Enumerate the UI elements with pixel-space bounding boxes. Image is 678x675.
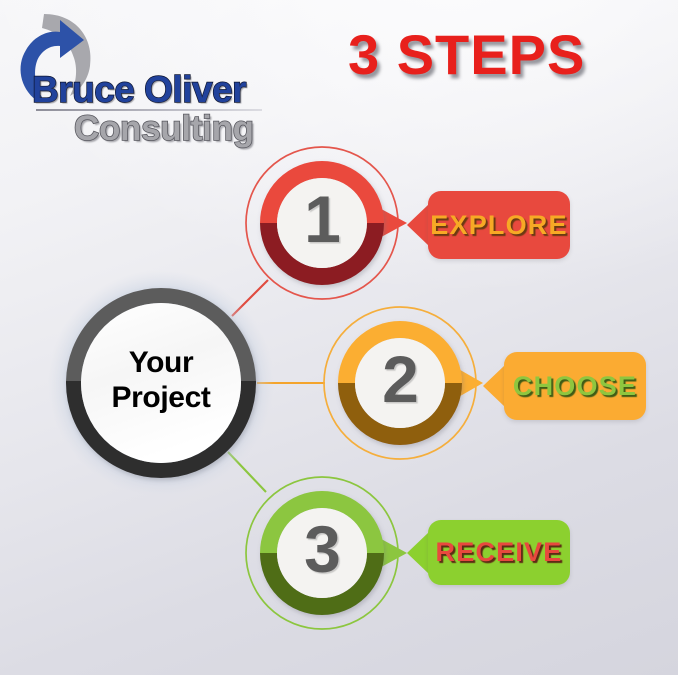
step-2-callout-notch: [483, 365, 505, 407]
logo-subtitle: Consulting: [74, 111, 277, 146]
logo-wordmark: Bruce Oliver Consulting: [32, 72, 277, 146]
step-3-callout-label: RECEIVE: [428, 520, 570, 585]
step-3-callout-notch: [407, 532, 429, 574]
step-1-callout-label: EXPLORE: [428, 191, 570, 259]
step-1-callout-notch: [407, 204, 429, 246]
center-node-label: Your Project: [66, 345, 256, 416]
logo-name: Bruce Oliver: [32, 72, 277, 108]
step-2-callout[interactable]: CHOOSE: [504, 352, 646, 420]
page-title: 3 STEPS: [348, 22, 585, 87]
infographic-canvas: Bruce Oliver Consulting 3 STEPS Your Pro…: [0, 0, 678, 675]
step-3-callout[interactable]: RECEIVE: [428, 520, 570, 585]
step-1-number: 1: [282, 186, 362, 252]
step-1-callout[interactable]: EXPLORE: [428, 191, 570, 259]
step-2-callout-label: CHOOSE: [504, 352, 646, 420]
center-label-line1: Your: [66, 345, 256, 380]
brand-logo[interactable]: Bruce Oliver Consulting: [10, 6, 280, 156]
step-3-number: 3: [282, 516, 362, 582]
center-label-line2: Project: [66, 380, 256, 415]
step-2-number: 2: [360, 346, 440, 412]
